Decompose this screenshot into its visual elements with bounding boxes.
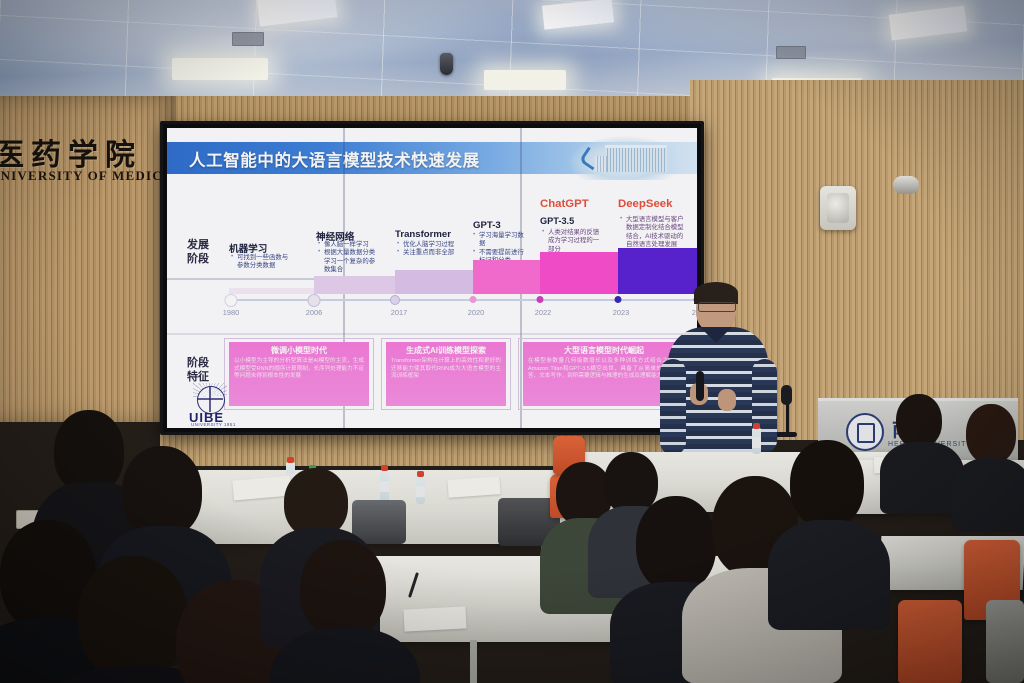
timeline-dot-0 bbox=[225, 294, 238, 307]
audience-head-10 bbox=[636, 496, 716, 592]
era-subheading-4: GPT-3.5 bbox=[540, 216, 574, 226]
era-heading-5: DeepSeek bbox=[618, 198, 672, 210]
presentation-screen: 人工智能中的大语言模型技术快速发展 发展 阶段 机器学习 可找到一些函数与参数分… bbox=[160, 121, 704, 435]
water-bottle-4 bbox=[416, 476, 425, 504]
row-label-stage-line1: 发展 bbox=[181, 238, 215, 252]
timeline: 1980 2006 2017 2020 2022 2023 2026 bbox=[227, 288, 697, 320]
presenter-hand-right bbox=[718, 389, 736, 411]
audience-head-2 bbox=[122, 446, 202, 538]
timeline-dot-3 bbox=[470, 296, 477, 303]
era-bullet-4-0: 人类对结果的反馈成为学习过程的一部分 bbox=[542, 229, 600, 254]
microphone-stand-1 bbox=[786, 400, 789, 434]
audience-head-14 bbox=[966, 404, 1016, 464]
timeline-year-3: 2020 bbox=[468, 308, 484, 317]
row-label-features: 阶段 特征 bbox=[181, 356, 215, 384]
era-bullet-1-1: 根据大量数据分类学习一个复杂的参数集合 bbox=[318, 249, 376, 274]
timeline-year-2: 2017 bbox=[391, 308, 407, 317]
ceiling-air-vent-1 bbox=[232, 32, 264, 46]
audience-head-13 bbox=[896, 394, 942, 448]
timeline-dot-2 bbox=[390, 295, 400, 305]
presenter-left-arm bbox=[660, 359, 686, 455]
feature-card-0: 微调小模型时代 以小模型为主导的分析型算法是AI模型的主流，生成式模型受RNN的… bbox=[229, 342, 369, 406]
uibe-logo: UIBE UNIVERSITY 1951 bbox=[189, 386, 245, 424]
water-bottle-3 bbox=[380, 470, 389, 502]
ceiling-panel-light-1 bbox=[172, 58, 268, 80]
audience-head-7 bbox=[300, 540, 386, 638]
wall-wood-upper bbox=[160, 96, 694, 122]
era-heading-0: 机器学习 bbox=[229, 241, 267, 255]
row-label-features-line1: 阶段 bbox=[181, 356, 215, 370]
era-heading-4: ChatGPT bbox=[540, 198, 589, 210]
notebook-3 bbox=[403, 606, 466, 631]
feature-title-2: 大型语言模型时代崛起 bbox=[528, 346, 680, 356]
timeline-dot-1 bbox=[308, 294, 321, 307]
university-emblem-icon bbox=[846, 413, 884, 451]
ceiling-dome-camera bbox=[440, 53, 453, 75]
timeline-year-0: 1980 bbox=[223, 308, 239, 317]
era-bullets-1: 像人脑一样学习 根据大量数据分类学习一个复杂的参数集合 bbox=[318, 241, 376, 275]
era-bullet-5-0: 大型语言模型与客户数据定制化结合模型结合，AI技术驱动的自然语言处理发展 bbox=[620, 216, 686, 250]
ceiling-air-vent-2 bbox=[776, 46, 806, 59]
microphone-head-1 bbox=[781, 385, 792, 405]
uibe-logo-sub: UNIVERSITY 1951 bbox=[191, 422, 236, 427]
feature-body-1: Transformer架构在计算上的高效性和更好的迁移能力使其取代RNN成为大语… bbox=[391, 358, 501, 380]
audience-head-4 bbox=[78, 556, 188, 680]
timeline-dot-5 bbox=[615, 296, 622, 303]
era-bullets-4: 人类对结果的反馈成为学习过程的一部分 bbox=[542, 229, 600, 254]
era-heading-2: Transformer bbox=[395, 229, 451, 240]
feature-body-0: 以小模型为主导的分析型算法是AI模型的主流，生成式模型受RNN的顺序计算限制，长… bbox=[234, 358, 364, 380]
timeline-year-1: 2006 bbox=[306, 308, 322, 317]
chair-orange-2[interactable] bbox=[898, 600, 962, 683]
presenter-glasses bbox=[698, 302, 736, 312]
wall-camera bbox=[893, 176, 919, 194]
feature-body-2: 在模型参数量几何级数增长以及多种训练方式组合之中，Amazon Titan和GP… bbox=[528, 358, 680, 380]
notebook-2 bbox=[447, 476, 500, 498]
feature-row-divider bbox=[167, 333, 697, 335]
era-bullets-5: 大型语言模型与客户数据定制化结合模型结合，AI技术驱动的自然语言处理发展 bbox=[620, 216, 686, 250]
table-leg-1 bbox=[470, 640, 477, 683]
feature-card-1: 生成式AI训练模型探索 Transformer架构在计算上的高效性和更好的迁移能… bbox=[386, 342, 506, 406]
water-bottle-7 bbox=[752, 428, 761, 454]
era-bullet-2-1: 关注重点而非全部 bbox=[397, 249, 457, 257]
slide-content: 人工智能中的大语言模型技术快速发展 发展 阶段 机器学习 可找到一些函数与参数分… bbox=[167, 128, 697, 428]
audience-body-12 bbox=[768, 520, 890, 630]
era-bullet-3-0: 学习海量学习数据 bbox=[473, 232, 529, 249]
timeline-year-5: 2023 bbox=[613, 308, 629, 317]
wall-sign-english: UNIVERSITY OF MEDICINE bbox=[0, 168, 168, 184]
wall-speaker bbox=[820, 186, 856, 230]
chair-grey-2[interactable] bbox=[986, 600, 1024, 683]
row-label-stage-line2: 阶段 bbox=[181, 252, 215, 266]
era-bullet-0-0: 可找到一些函数与参数分类数据 bbox=[231, 254, 289, 271]
row-label-stage: 发展 阶段 bbox=[181, 238, 215, 266]
feature-title-0: 微调小模型时代 bbox=[234, 346, 364, 356]
timeline-year-4: 2022 bbox=[535, 308, 551, 317]
ceiling-panel-light-2 bbox=[484, 70, 566, 90]
era-bullets-0: 可找到一些函数与参数分类数据 bbox=[231, 254, 289, 271]
lecture-hall-photo: 医药学院 UNIVERSITY OF MEDICINE 人工智能中的大语言模型技… bbox=[0, 0, 1024, 683]
building-logo-icon bbox=[569, 136, 681, 180]
era-bullets-2: 优化人脑学习过程 关注重点而非全部 bbox=[397, 241, 457, 258]
timeline-axis bbox=[227, 299, 697, 301]
timeline-dot-4 bbox=[537, 296, 544, 303]
feature-title-1: 生成式AI训练模型探索 bbox=[391, 346, 501, 356]
audience-head-12 bbox=[790, 440, 864, 528]
era-heading-3: GPT-3 bbox=[473, 220, 501, 231]
slide-title: 人工智能中的大语言模型技术快速发展 bbox=[189, 147, 480, 171]
presenter-handheld-microphone bbox=[696, 371, 704, 401]
audience-body-14 bbox=[952, 458, 1024, 532]
presenter-hair bbox=[694, 282, 738, 304]
